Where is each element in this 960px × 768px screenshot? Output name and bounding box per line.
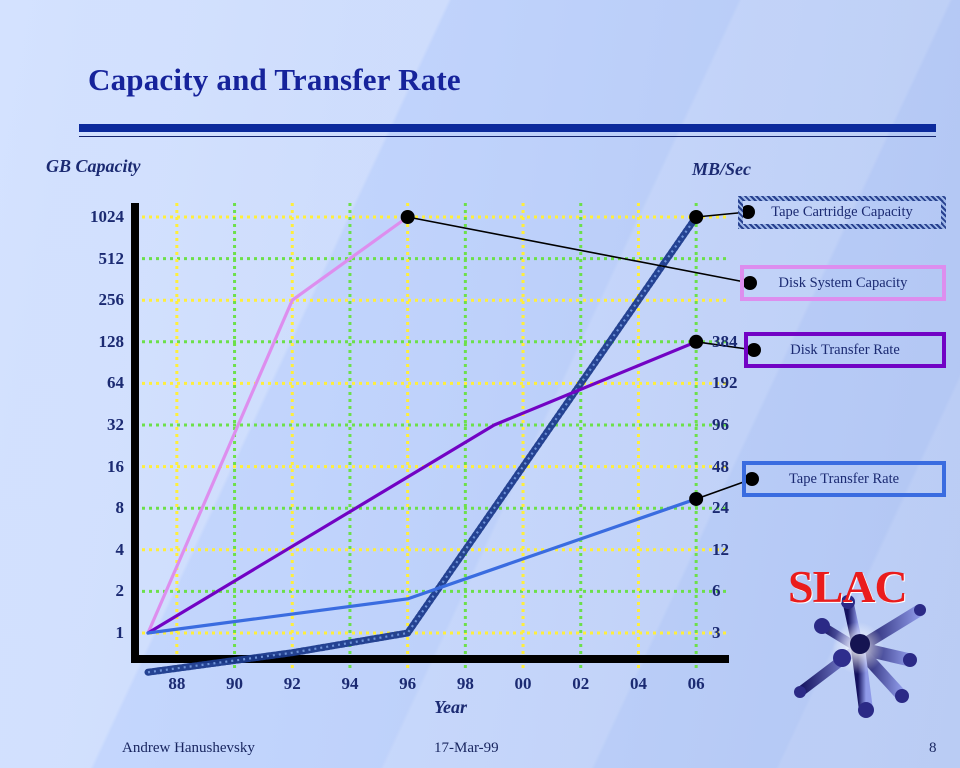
legend-item-disk-system-capacity[interactable]: Disk System Capacity: [740, 265, 946, 301]
legend-label: Tape Cartridge Capacity: [771, 204, 913, 221]
y2-tick-48: 48: [712, 457, 729, 477]
legend-item-tape-transfer-rate[interactable]: Tape Transfer Rate: [742, 461, 946, 497]
y-tick-16: 16: [58, 457, 124, 477]
y2-tick-384: 384: [712, 332, 738, 352]
y2-tick-3: 3: [712, 623, 721, 643]
slac-logo: SLAC: [778, 556, 953, 726]
x-tick-98: 98: [457, 674, 474, 694]
legend-item-tape-cartridge-capacity[interactable]: Tape Cartridge Capacity: [738, 196, 946, 229]
y-tick-128: 128: [58, 332, 124, 352]
x-tick-06: 06: [688, 674, 705, 694]
x-tick-00: 00: [515, 674, 532, 694]
legend-label: Tape Transfer Rate: [789, 471, 899, 488]
y-tick-1024: 1024: [58, 207, 124, 227]
y-tick-256: 256: [58, 290, 124, 310]
y-tick-8: 8: [58, 498, 124, 518]
y2-tick-192: 192: [712, 373, 738, 393]
x-tick-96: 96: [399, 674, 416, 694]
x-tick-88: 88: [168, 674, 185, 694]
y-tick-2: 2: [58, 581, 124, 601]
y2-tick-96: 96: [712, 415, 729, 435]
series-lines: [148, 217, 696, 672]
legend-label: Disk System Capacity: [779, 275, 908, 292]
footer-author: Andrew Hanushevsky: [122, 740, 255, 757]
y-tick-32: 32: [58, 415, 124, 435]
slac-logo-text: SLAC: [788, 560, 928, 613]
y-tick-512: 512: [58, 249, 124, 269]
x-tick-92: 92: [284, 674, 301, 694]
footer-page-number: 8: [929, 740, 937, 757]
legend-label: Disk Transfer Rate: [790, 342, 900, 359]
slide-canvas: Capacity and Transfer Rate GB Capacity M…: [0, 0, 960, 768]
y2-tick-12: 12: [712, 540, 729, 560]
x-tick-94: 94: [341, 674, 358, 694]
y-tick-64: 64: [58, 373, 124, 393]
y2-tick-6: 6: [712, 581, 721, 601]
footer-date: 17-Mar-99: [434, 740, 499, 757]
x-tick-02: 02: [572, 674, 589, 694]
x-tick-90: 90: [226, 674, 243, 694]
y-tick-1: 1: [58, 623, 124, 643]
legend-item-disk-transfer-rate[interactable]: Disk Transfer Rate: [744, 332, 946, 368]
y2-tick-24: 24: [712, 498, 729, 518]
y-tick-4: 4: [58, 540, 124, 560]
x-tick-04: 04: [630, 674, 647, 694]
chart-axes: [131, 203, 729, 663]
